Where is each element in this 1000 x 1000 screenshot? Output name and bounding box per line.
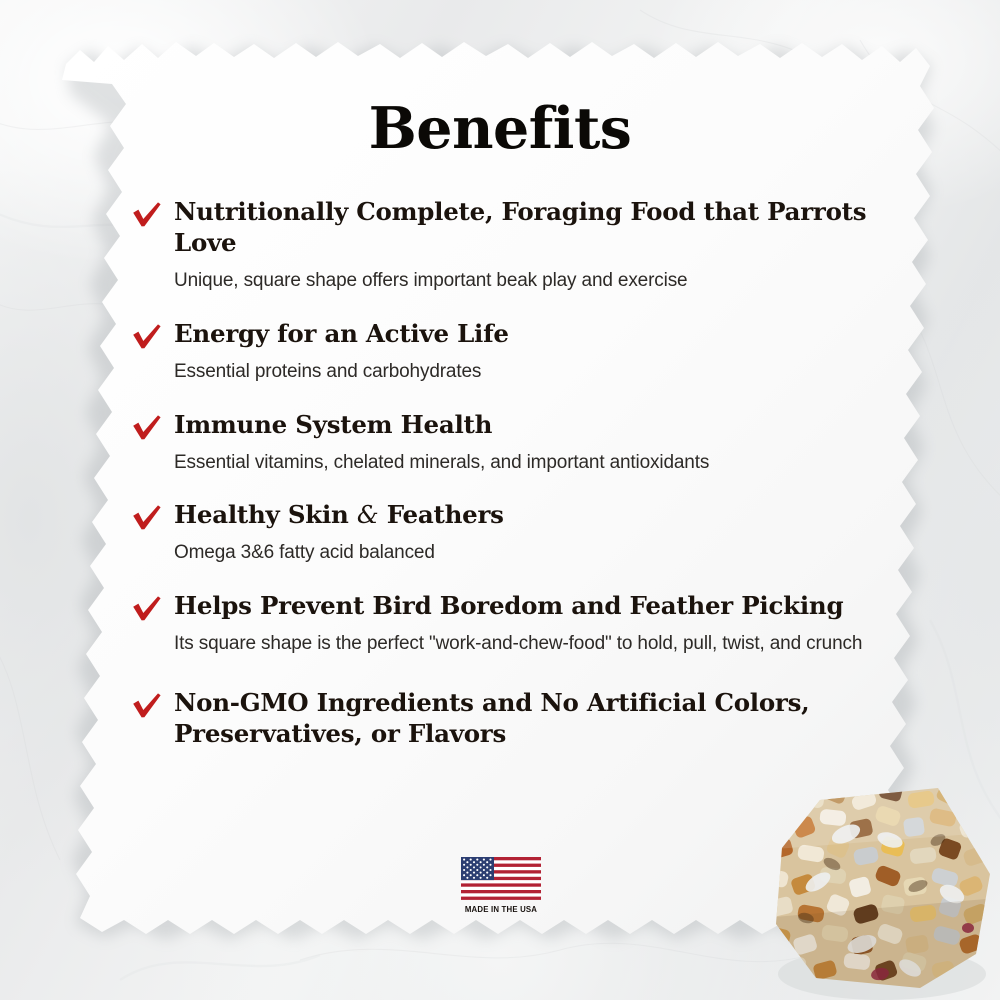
usa-flag-icon [461, 857, 541, 900]
check-icon [131, 199, 163, 229]
benefit-subtext: Its square shape is the perfect "work-an… [174, 627, 874, 661]
benefit-heading: Nutritionally Complete, Foraging Food th… [174, 196, 891, 258]
benefit-heading: Immune System Health [174, 409, 891, 440]
benefit-item: Healthy Skin & Feathers Omega 3&6 fatty … [131, 499, 891, 570]
benefit-subtext: Essential proteins and carbohydrates [174, 355, 874, 389]
benefit-subtext: Omega 3&6 fatty acid balanced [174, 536, 874, 570]
page-background: Benefits Nutritionally Complete, Foragin… [0, 0, 1000, 1000]
benefit-subtext: Unique, square shape offers important be… [174, 264, 874, 298]
check-icon [131, 502, 163, 532]
page-title: Benefits [0, 99, 1000, 159]
benefit-heading: Energy for an Active Life [174, 318, 891, 349]
benefit-item: Nutritionally Complete, Foraging Food th… [131, 196, 891, 298]
benefit-item: Helps Prevent Bird Boredom and Feather P… [131, 590, 891, 661]
check-icon [131, 321, 163, 351]
check-icon [131, 690, 163, 720]
benefit-item: Immune System Health Essential vitamins,… [131, 409, 891, 480]
check-icon [131, 593, 163, 623]
check-icon [131, 412, 163, 442]
benefit-subtext: Essential vitamins, chelated minerals, a… [174, 446, 874, 480]
benefit-heading: Helps Prevent Bird Boredom and Feather P… [174, 590, 891, 621]
bird-food-block-image [762, 778, 998, 1000]
made-in-usa-label: MADE IN THE USA [459, 904, 544, 914]
made-in-usa-badge: MADE IN THE USA [455, 857, 547, 914]
benefit-item: Non-GMO Ingredients and No Artificial Co… [131, 687, 891, 749]
benefit-heading: Non-GMO Ingredients and No Artificial Co… [174, 687, 891, 749]
benefit-item: Energy for an Active Life Essential prot… [131, 318, 891, 389]
benefits-list: Nutritionally Complete, Foraging Food th… [131, 196, 891, 749]
benefit-heading: Healthy Skin & Feathers [174, 499, 891, 530]
